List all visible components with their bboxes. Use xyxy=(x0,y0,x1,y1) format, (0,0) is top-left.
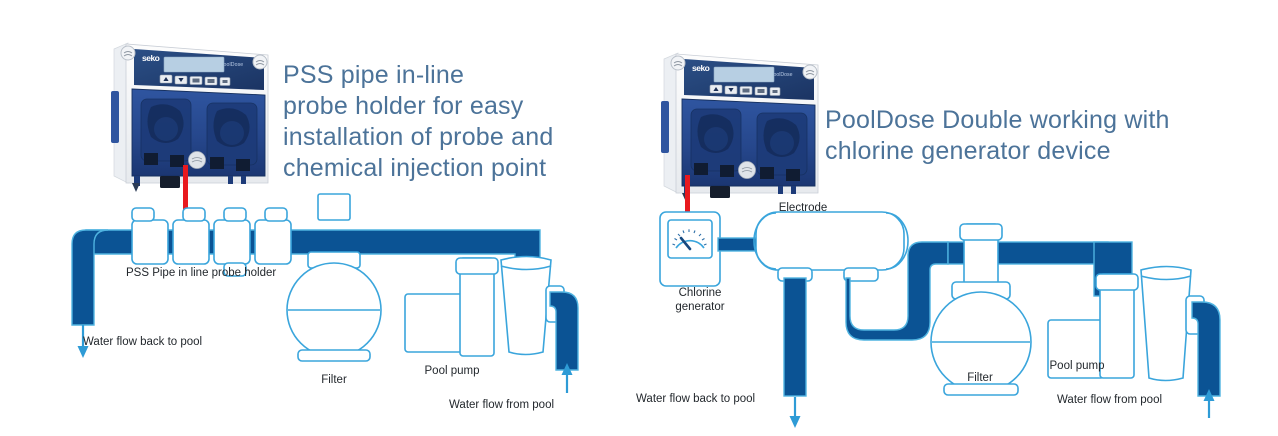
pooldose-device-svg: seko PoolDose xyxy=(108,33,278,198)
label-electrode: Electrode xyxy=(748,201,858,215)
pool-pump-left xyxy=(405,257,564,357)
panel-right: seko PoolDose xyxy=(620,0,1278,436)
label-filter-right: Filter xyxy=(953,371,1007,385)
hydraulic-schematic-left: .pipe{fill:#0b5394;stroke:#4fb3e0;stroke… xyxy=(60,200,600,400)
device-brand-right: seko xyxy=(692,63,710,73)
label-pool-pump-right: Pool pump xyxy=(1037,359,1117,373)
chlorine-generator xyxy=(660,212,720,286)
label-water-flow-from-right: Water flow from pool xyxy=(1057,393,1162,407)
label-pss-probe-holder: PSS Pipe in line probe holder xyxy=(126,266,276,280)
device-brand-left: seko xyxy=(142,53,160,63)
label-pool-pump-left: Pool pump xyxy=(412,364,492,378)
label-filter-left: Filter xyxy=(307,373,361,387)
panel-left: seko PoolDose xyxy=(0,0,620,436)
pooldose-device-image-left: seko PoolDose xyxy=(108,33,278,198)
label-water-flow-back-left: Water flow back to pool xyxy=(83,335,202,349)
label-water-flow-back-right: Water flow back to pool xyxy=(636,392,755,406)
diagram-canvas: seko PoolDose xyxy=(0,0,1278,436)
label-water-flow-from-left: Water flow from pool xyxy=(449,398,554,412)
heading-right: PoolDose Double working with chlorine ge… xyxy=(825,105,1170,167)
filter-left xyxy=(287,194,381,361)
electrode-chamber xyxy=(754,212,908,281)
heading-left: PSS pipe in-line probe holder for easy i… xyxy=(283,60,553,184)
return-flow-arrow-head-right xyxy=(790,416,801,428)
label-chlorine-generator: Chlorine generator xyxy=(648,286,752,314)
